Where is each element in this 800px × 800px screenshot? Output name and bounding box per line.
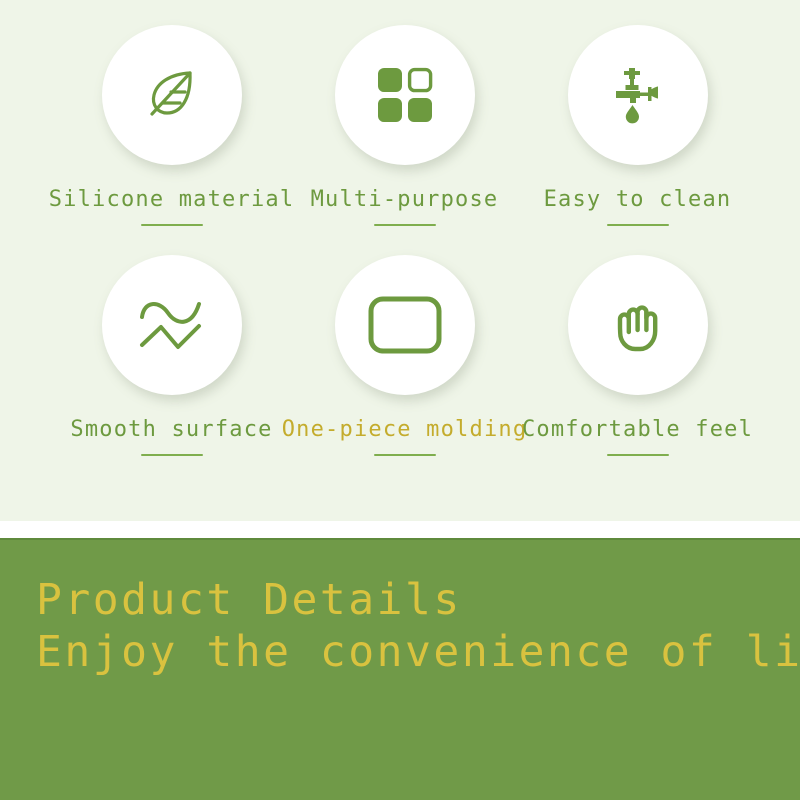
banner-heading: Product Details xyxy=(36,574,800,626)
grid-squares-icon xyxy=(375,65,435,125)
feature-label: Smooth surface xyxy=(70,419,272,441)
section-separator xyxy=(0,521,800,538)
features-grid: Silicone material xyxy=(0,0,800,460)
feature-label: Comfortable feel xyxy=(522,419,753,441)
feature-row: Silicone material xyxy=(0,0,800,230)
feature-icon-badge xyxy=(102,25,242,165)
features-panel: Silicone material xyxy=(0,0,800,521)
feature-underline xyxy=(374,224,436,226)
leaf-icon xyxy=(140,63,204,127)
feature-item-silicone-material[interactable]: Silicone material xyxy=(55,0,288,230)
product-details-banner: Product Details Enjoy the convenience of… xyxy=(0,538,800,800)
feature-label: Silicone material xyxy=(49,189,295,211)
feature-label: One-piece molding xyxy=(282,419,528,441)
rounded-rectangle-icon xyxy=(368,296,442,354)
feature-icon-badge xyxy=(102,255,242,395)
feature-label: Multi-purpose xyxy=(311,189,499,211)
feature-underline xyxy=(607,454,669,456)
feature-item-smooth-surface[interactable]: Smooth surface xyxy=(55,230,288,460)
feature-label: Easy to clean xyxy=(544,189,732,211)
feature-underline xyxy=(141,224,203,226)
feature-item-comfortable-feel[interactable]: Comfortable feel xyxy=(521,230,754,460)
feature-icon-badge xyxy=(568,25,708,165)
feature-icon-badge xyxy=(335,255,475,395)
feature-underline xyxy=(607,224,669,226)
open-hand-icon xyxy=(607,292,669,358)
banner-text-block: Product Details Enjoy the convenience of… xyxy=(36,574,800,678)
feature-item-multi-purpose[interactable]: Multi-purpose xyxy=(288,0,521,230)
feature-row: Smooth surface One-piece molding xyxy=(0,230,800,460)
wave-zigzag-icon xyxy=(137,295,207,355)
feature-icon-badge xyxy=(335,25,475,165)
feature-underline xyxy=(141,454,203,456)
faucet-drop-icon xyxy=(607,64,669,126)
banner-subheading: Enjoy the convenience of life xyxy=(36,626,800,678)
feature-icon-badge xyxy=(568,255,708,395)
product-feature-page: Silicone material xyxy=(0,0,800,800)
feature-item-easy-to-clean[interactable]: Easy to clean xyxy=(521,0,754,230)
feature-underline xyxy=(374,454,436,456)
feature-item-one-piece-molding[interactable]: One-piece molding xyxy=(288,230,521,460)
